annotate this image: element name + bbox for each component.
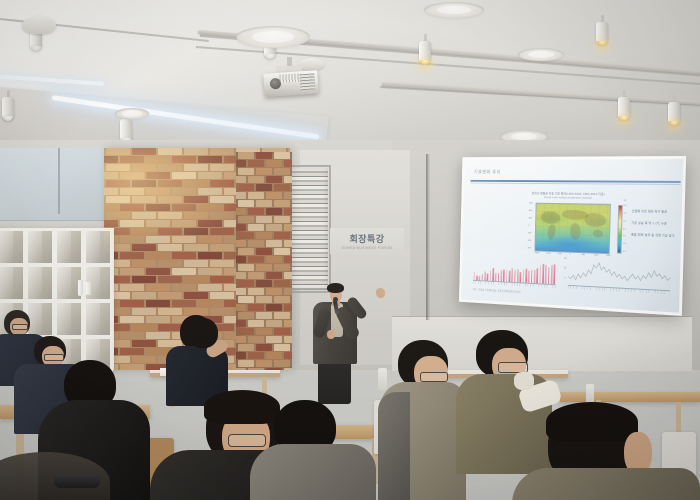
ceiling-speaker-disc bbox=[115, 108, 149, 119]
bar bbox=[514, 270, 516, 282]
map-y-tick: 90S bbox=[528, 247, 531, 249]
slide-note: 폭염·한파·호우 등 극한 기상 증가 bbox=[631, 233, 675, 238]
map-y-tick: 0 bbox=[528, 225, 529, 227]
bar bbox=[542, 264, 544, 284]
projection-screen: 기후변화 추이 전지구 연평균 지표 기온 편차(1850-2020, 1981… bbox=[459, 156, 686, 316]
slide-note: 기온 상승 폭 약 1.1℃ 수준 bbox=[631, 222, 667, 227]
bar bbox=[531, 270, 533, 283]
phone-on-table bbox=[54, 474, 100, 488]
world-map-heatmap bbox=[534, 203, 610, 254]
colorbar-tick: 1.0 bbox=[623, 220, 626, 222]
spotlight bbox=[668, 95, 680, 125]
table bbox=[560, 392, 700, 402]
colorbar-tick: 0.5 bbox=[623, 228, 626, 230]
glass-mullion bbox=[58, 148, 60, 214]
presenter-hair bbox=[327, 283, 344, 293]
bar bbox=[511, 268, 513, 282]
event-banner: 회장특강 KOREA BUSINESS FORUM bbox=[330, 228, 404, 254]
presenter-legs bbox=[318, 360, 351, 404]
bar bbox=[539, 265, 541, 283]
ceiling-speaker-disc bbox=[236, 26, 310, 48]
spotlight bbox=[618, 90, 630, 120]
bar bbox=[553, 264, 555, 284]
ceiling-projector bbox=[264, 57, 318, 97]
ceiling-speaker-disc bbox=[424, 2, 484, 18]
colorbar-tick: 2.0 bbox=[624, 205, 627, 207]
smoke-detector bbox=[22, 16, 56, 34]
presentation-slide: 기후변화 추이 전지구 연평균 지표 기온 편차(1850-2020, 1981… bbox=[461, 159, 683, 313]
ceiling bbox=[0, 0, 700, 152]
map-x-tick: 0 bbox=[570, 254, 571, 256]
spotlight bbox=[596, 15, 608, 45]
slide-title-rule-thin bbox=[471, 183, 681, 185]
slide-title: 기후변화 추이 bbox=[474, 169, 501, 175]
map-y-tick: 60S bbox=[528, 240, 531, 242]
map-y-tick: 60N bbox=[529, 210, 532, 212]
table-leg bbox=[676, 402, 681, 434]
spotlight bbox=[2, 90, 14, 120]
bar bbox=[522, 270, 524, 283]
precipitation-line-chart: 60 30 0 bbox=[568, 258, 671, 290]
map-x-tick: 120W bbox=[546, 253, 551, 255]
banner-title: 회장특강 bbox=[349, 232, 384, 245]
heatmap-colorbar bbox=[617, 205, 623, 254]
bar bbox=[520, 272, 522, 283]
bar bbox=[536, 268, 538, 283]
colorbar-tick: -1.0 bbox=[622, 251, 625, 253]
map-y-tick: 30N bbox=[529, 218, 532, 220]
bar bbox=[517, 269, 519, 282]
bar bbox=[500, 270, 502, 281]
map-x-tick: 120E bbox=[594, 255, 599, 257]
microphone-head bbox=[333, 297, 338, 302]
bar bbox=[525, 268, 527, 282]
screen-left-edge bbox=[426, 154, 430, 320]
map-x-tick: 60W bbox=[558, 253, 562, 255]
bar bbox=[509, 271, 511, 282]
brick-column-side bbox=[236, 152, 292, 370]
spotlight bbox=[419, 34, 431, 64]
ceiling-speaker-disc bbox=[518, 48, 564, 61]
slide-note: 산업화 이전 대비 지구 평균 bbox=[632, 210, 667, 214]
shelf-bottle bbox=[86, 282, 91, 295]
bar bbox=[534, 270, 536, 283]
bar bbox=[506, 269, 508, 281]
chart-footnote: 자료 : 기상청 기후정보포털, 국가기후변화표준시나리오 bbox=[473, 287, 521, 293]
temperature-anomaly-bar-chart bbox=[473, 258, 556, 284]
lecture-room-photo: 회장특강 KOREA BUSINESS FORUM 기후변화 추이 전지구 연평… bbox=[0, 0, 700, 500]
bar bbox=[551, 265, 553, 284]
map-x-tick: 180W bbox=[534, 252, 539, 254]
colorbar-tick: 1.5 bbox=[623, 213, 626, 215]
bar bbox=[503, 269, 505, 281]
map-y-tick: 90N bbox=[529, 203, 532, 205]
map-y-tick: 30S bbox=[528, 232, 531, 234]
map-x-tick: 60E bbox=[582, 254, 586, 256]
presenter-mic-hand bbox=[327, 330, 335, 339]
water-bottle bbox=[586, 384, 594, 404]
colorbar-tick: 0.0 bbox=[623, 235, 626, 237]
banner-subtitle: KOREA BUSINESS FORUM bbox=[342, 246, 393, 250]
water-bottle bbox=[378, 368, 387, 390]
map-x-tick: 180E bbox=[606, 255, 611, 257]
shelf-bottle bbox=[78, 280, 83, 296]
bar bbox=[528, 271, 530, 283]
bar bbox=[548, 267, 550, 284]
colorbar-unit: ℃ bbox=[624, 200, 626, 202]
bar bbox=[492, 268, 494, 281]
window-blinds bbox=[286, 168, 328, 290]
colorbar-tick: -0.5 bbox=[623, 243, 626, 245]
bar bbox=[545, 265, 547, 284]
